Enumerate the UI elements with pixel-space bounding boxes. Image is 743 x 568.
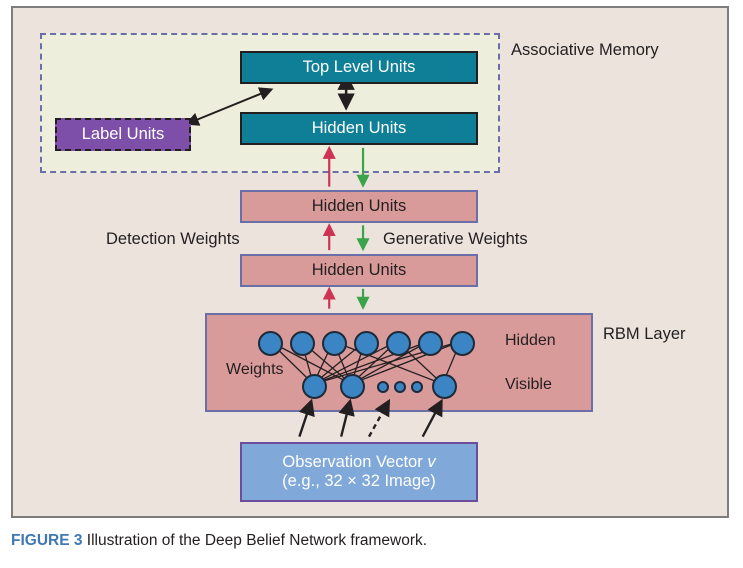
rbm-hidden-unit <box>418 331 443 356</box>
rbm-weights-label: Weights <box>226 361 284 379</box>
rbm-visible-ellipsis-dot <box>377 381 389 393</box>
figure-caption-tag: FIGURE 3 <box>11 532 82 549</box>
node-associative-hidden-units[interactable]: Hidden Units <box>240 112 478 145</box>
rbm-hidden-unit <box>354 331 379 356</box>
rbm-hidden-unit <box>322 331 347 356</box>
observation-vector-line1: Observation Vector v <box>282 453 435 472</box>
rbm-layer-label: RBM Layer <box>603 325 686 344</box>
rbm-hidden-unit <box>450 331 475 356</box>
detection-weights-label: Detection Weights <box>106 230 240 249</box>
rbm-hidden-unit <box>386 331 411 356</box>
rbm-visible-ellipsis-dot <box>411 381 423 393</box>
generative-weights-label: Generative Weights <box>383 230 528 249</box>
figure-frame: Associative Memory RBM Layer Hidden Visi… <box>11 6 729 518</box>
node-top-level-units[interactable]: Top Level Units <box>240 51 478 84</box>
node-hidden-units-2[interactable]: Hidden Units <box>240 190 478 223</box>
rbm-hidden-unit <box>258 331 283 356</box>
node-observation-vector[interactable]: Observation Vector v (e.g., 32 × 32 Imag… <box>240 442 478 502</box>
figure-caption: FIGURE 3 Illustration of the Deep Belief… <box>11 532 731 550</box>
diagram-canvas: Associative Memory RBM Layer Hidden Visi… <box>13 8 727 516</box>
figure-caption-text: Illustration of the Deep Belief Network … <box>82 532 427 549</box>
observation-vector-variable: v <box>427 453 435 471</box>
node-label-units[interactable]: Label Units <box>55 118 191 151</box>
rbm-visible-unit <box>340 374 365 399</box>
rbm-visible-ellipsis-dot <box>394 381 406 393</box>
observation-vector-line1-text: Observation Vector <box>282 453 427 471</box>
rbm-visible-row-label: Visible <box>505 376 552 394</box>
rbm-visible-unit <box>432 374 457 399</box>
associative-memory-label: Associative Memory <box>511 41 659 60</box>
observation-vector-line2: (e.g., 32 × 32 Image) <box>282 472 436 491</box>
rbm-visible-unit <box>302 374 327 399</box>
rbm-hidden-unit <box>290 331 315 356</box>
node-hidden-units-1[interactable]: Hidden Units <box>240 254 478 287</box>
rbm-hidden-row-label: Hidden <box>505 332 556 350</box>
